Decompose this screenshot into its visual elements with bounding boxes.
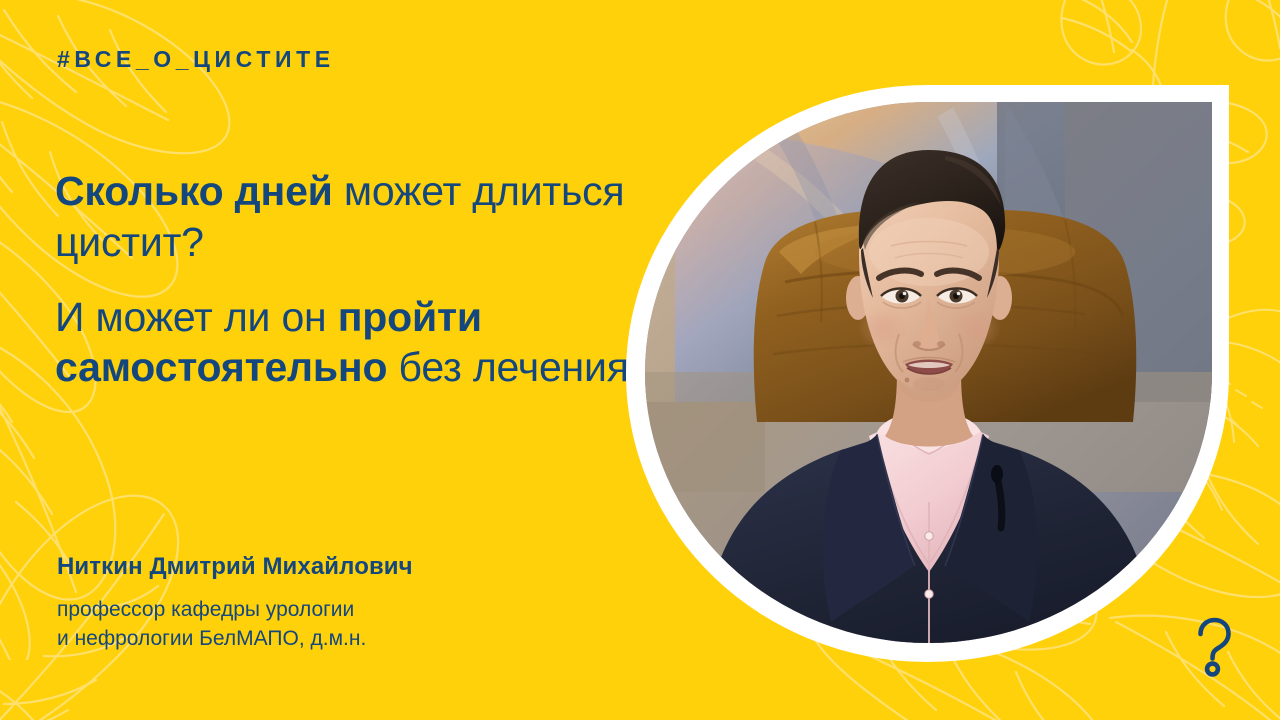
- speaker-credit: Ниткин Дмитрий Михайлович профессор кафе…: [57, 553, 413, 654]
- presentation-slide: #ВСЕ_О_ЦИСТИТЕ Сколько дней может длитьс…: [0, 0, 1280, 720]
- headline-q2-lead: И может ли он: [55, 294, 338, 340]
- question-mark-icon: [1192, 617, 1236, 677]
- portrait-container: [626, 85, 1229, 662]
- speaker-name: Ниткин Дмитрий Михайлович: [57, 553, 413, 582]
- hashtag-label: #ВСЕ_О_ЦИСТИТЕ: [57, 46, 335, 73]
- headline-question-1: Сколько дней может длиться цистит?: [55, 166, 655, 268]
- speaker-title: профессор кафедры урологии и нефрологии …: [57, 596, 413, 654]
- headline-q2-rest: без лечения?: [387, 344, 651, 390]
- speaker-photo: [645, 102, 1212, 643]
- headline-question-2: И может ли он пройти самостоятельно без …: [55, 292, 655, 394]
- portrait-mask: [645, 102, 1212, 643]
- leaf-pattern-bottom-left-icon: [0, 360, 280, 720]
- headline-q1-bold: Сколько дней: [55, 168, 333, 214]
- page-title: Сколько дней может длиться цистит? И мож…: [55, 166, 655, 393]
